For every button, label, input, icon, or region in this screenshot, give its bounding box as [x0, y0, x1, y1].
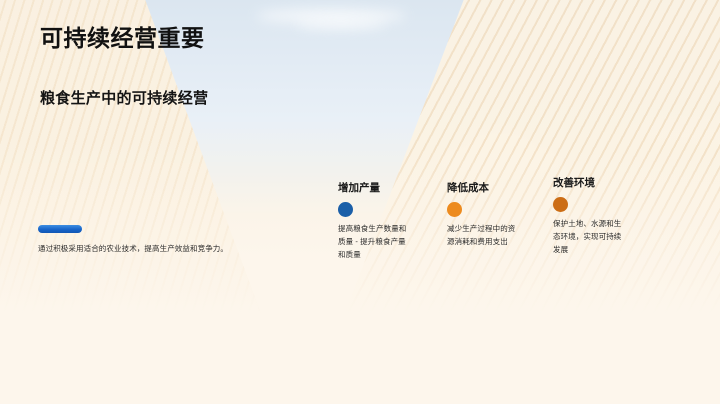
presentation-slide: 可持续经营重要 粮食生产中的可持续经营 通过积极采用适合的农业技术，提高生产效益…	[0, 0, 720, 404]
column-2-heading: 增加产量	[338, 182, 434, 196]
column-4-body: 保护土地、水源和生态环境，实现可持续发展	[553, 217, 623, 256]
column-1-marker-row	[38, 216, 278, 242]
pill-marker-icon	[38, 225, 82, 233]
dot-marker-icon	[338, 202, 353, 217]
column-2-marker-row	[338, 196, 434, 222]
column-4-heading: 改善环境	[553, 177, 649, 191]
content-column-2: 增加产量 提高粮食生产数量和质量 - 提升粮食产量和质量	[338, 182, 434, 261]
column-3-marker-row	[447, 196, 543, 222]
column-1-body: 通过积极采用适合的农业技术，提高生产效益和竞争力。	[38, 242, 278, 255]
column-3-heading: 降低成本	[447, 182, 543, 196]
column-1-heading	[38, 202, 278, 216]
column-3-body: 减少生产过程中的资源消耗和费用支出	[447, 222, 521, 248]
content-column-1: 通过积极采用适合的农业技术，提高生产效益和竞争力。	[38, 202, 278, 255]
content-column-3: 降低成本 减少生产过程中的资源消耗和费用支出	[447, 182, 543, 248]
column-2-body: 提高粮食生产数量和质量 - 提升粮食产量和质量	[338, 222, 412, 261]
column-4-marker-row	[553, 191, 649, 217]
dot-marker-icon	[447, 202, 462, 217]
content-columns: 通过积极采用适合的农业技术，提高生产效益和竞争力。 增加产量 提高粮食生产数量和…	[0, 0, 720, 404]
content-column-4: 改善环境 保护土地、水源和生态环境，实现可持续发展	[553, 177, 649, 256]
dot-marker-icon	[553, 197, 568, 212]
